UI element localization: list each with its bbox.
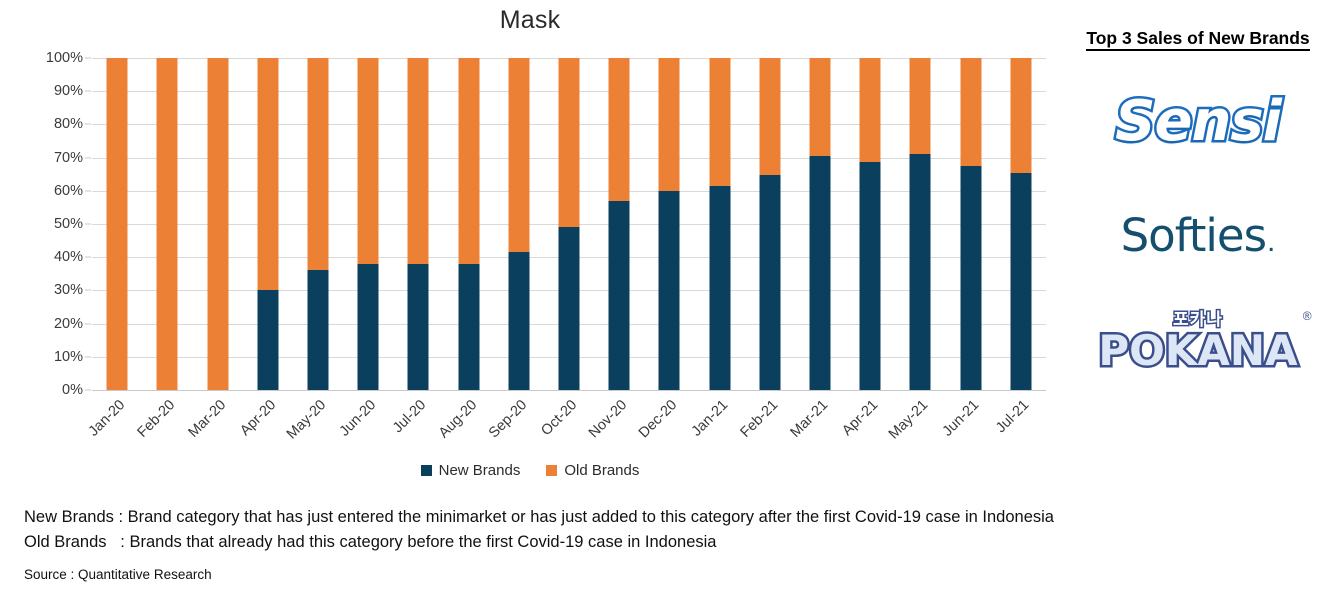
chart-title: Mask bbox=[0, 6, 1060, 35]
note-old-brands: Old Brands : Brands that already had thi… bbox=[24, 530, 1314, 555]
x-tick-label: Jul-20 bbox=[390, 397, 429, 436]
legend-item-old-brands[interactable]: Old Brands bbox=[546, 462, 639, 479]
y-tick-mark bbox=[85, 224, 91, 225]
x-tick-slot: Jan-20 bbox=[92, 58, 142, 390]
y-tick-label: 90% bbox=[54, 83, 83, 99]
x-tick-slot: Jan-21 bbox=[695, 58, 745, 390]
legend-swatch-icon bbox=[421, 465, 432, 476]
x-tick-label: Feb-21 bbox=[737, 397, 781, 441]
y-tick-label: 80% bbox=[54, 116, 83, 132]
y-tick-mark bbox=[85, 124, 91, 125]
x-tick-slot: Jun-21 bbox=[946, 58, 996, 390]
legend-swatch-icon bbox=[546, 465, 557, 476]
y-tick-label: 70% bbox=[54, 150, 83, 166]
x-tick-slot: Feb-20 bbox=[142, 58, 192, 390]
y-tick-mark bbox=[85, 58, 91, 59]
y-tick-label: 100% bbox=[46, 50, 83, 66]
x-tick-label: Feb-20 bbox=[135, 397, 179, 441]
x-tick-slot: Jul-20 bbox=[393, 58, 443, 390]
logo-softies-text: Softies bbox=[1121, 213, 1266, 258]
x-tick-label: Jul-21 bbox=[993, 397, 1032, 436]
legend-label: Old Brands bbox=[564, 462, 639, 479]
x-tick-slot: May-21 bbox=[895, 58, 945, 390]
y-tick-mark bbox=[85, 157, 91, 158]
y-tick-label: 40% bbox=[54, 249, 83, 265]
y-tick-mark bbox=[85, 257, 91, 258]
logo-sensi: Sensi bbox=[1060, 72, 1336, 172]
x-tick-slot: Mar-21 bbox=[795, 58, 845, 390]
x-tick-label: Jun-20 bbox=[337, 397, 380, 440]
x-tick-label: Jan-20 bbox=[86, 397, 129, 440]
x-tick-label: Dec-20 bbox=[636, 397, 680, 441]
x-tick-label: Sep-20 bbox=[486, 397, 530, 441]
x-tick-slot: Jul-21 bbox=[996, 58, 1046, 390]
y-tick-mark bbox=[85, 356, 91, 357]
x-tick-label: Jun-21 bbox=[939, 397, 982, 440]
x-tick-slot: May-20 bbox=[293, 58, 343, 390]
y-tick-label: 50% bbox=[54, 216, 83, 232]
x-tick-slot: Mar-20 bbox=[192, 58, 242, 390]
x-tick-slot: Apr-20 bbox=[243, 58, 293, 390]
x-tick-slot: Aug-20 bbox=[443, 58, 493, 390]
legend-item-new-brands[interactable]: New Brands bbox=[421, 462, 521, 479]
x-tick-slot: Jun-20 bbox=[343, 58, 393, 390]
x-tick-label: Apr-21 bbox=[839, 397, 881, 439]
x-tick-label: Mar-21 bbox=[788, 397, 832, 441]
logo-sensi-text: Sensi bbox=[1115, 94, 1281, 150]
logo-softies-wrap: Softies . bbox=[1121, 213, 1276, 258]
x-tick-label: Nov-20 bbox=[586, 397, 630, 441]
plot-area: 0%10%20%30%40%50%60%70%80%90%100% Jan-20… bbox=[92, 58, 1046, 390]
legend-label: New Brands bbox=[439, 462, 521, 479]
x-tick-slot: Feb-21 bbox=[745, 58, 795, 390]
x-tick-label: Jan-21 bbox=[688, 397, 731, 440]
x-tick-label: May-20 bbox=[284, 397, 330, 443]
x-axis-line bbox=[92, 390, 1046, 391]
y-tick-mark bbox=[85, 390, 91, 391]
x-tick-slot: Dec-20 bbox=[644, 58, 694, 390]
chart-panel: Mask 0%10%20%30%40%50%60%70%80%90%100% J… bbox=[0, 0, 1060, 500]
logo-pokana-text: POKANA bbox=[1098, 330, 1297, 372]
logo-pokana-wrap: 포카나 POKANA ® bbox=[1098, 312, 1297, 372]
top-brands-panel: Top 3 Sales of New Brands Sensi Softies … bbox=[1060, 0, 1336, 420]
x-tick-slot: Oct-20 bbox=[544, 58, 594, 390]
y-tick-mark bbox=[85, 91, 91, 92]
y-tick-label: 10% bbox=[54, 349, 83, 365]
logo-pokana: 포카나 POKANA ® bbox=[1060, 292, 1336, 392]
y-tick-label: 30% bbox=[54, 282, 83, 298]
x-tick-label: May-21 bbox=[886, 397, 932, 443]
top-brands-title-text: Top 3 Sales of New Brands bbox=[1086, 28, 1309, 51]
x-tick-label: Apr-20 bbox=[237, 397, 279, 439]
x-tick-slot: Nov-20 bbox=[594, 58, 644, 390]
source-label: Source : Quantitative Research bbox=[24, 567, 212, 582]
y-tick-label: 60% bbox=[54, 183, 83, 199]
footnotes: New Brands : Brand category that has jus… bbox=[24, 505, 1314, 555]
note-new-brands: New Brands : Brand category that has jus… bbox=[24, 505, 1314, 530]
y-tick-mark bbox=[85, 323, 91, 324]
top-brands-title: Top 3 Sales of New Brands bbox=[1060, 28, 1336, 49]
chart-legend: New BrandsOld Brands bbox=[0, 462, 1060, 479]
x-tick-label: Oct-20 bbox=[538, 397, 580, 439]
x-tick-slot: Sep-20 bbox=[494, 58, 544, 390]
x-tick-slot: Apr-21 bbox=[845, 58, 895, 390]
x-tick-label: Mar-20 bbox=[185, 397, 229, 441]
logo-softies-dot: . bbox=[1267, 227, 1275, 257]
y-tick-label: 0% bbox=[62, 382, 83, 398]
y-tick-label: 20% bbox=[54, 316, 83, 332]
logo-pokana-registered-icon: ® bbox=[1303, 310, 1312, 322]
y-tick-mark bbox=[85, 190, 91, 191]
y-tick-mark bbox=[85, 290, 91, 291]
logo-softies: Softies . bbox=[1060, 190, 1336, 280]
x-tick-label: Aug-20 bbox=[435, 397, 479, 441]
